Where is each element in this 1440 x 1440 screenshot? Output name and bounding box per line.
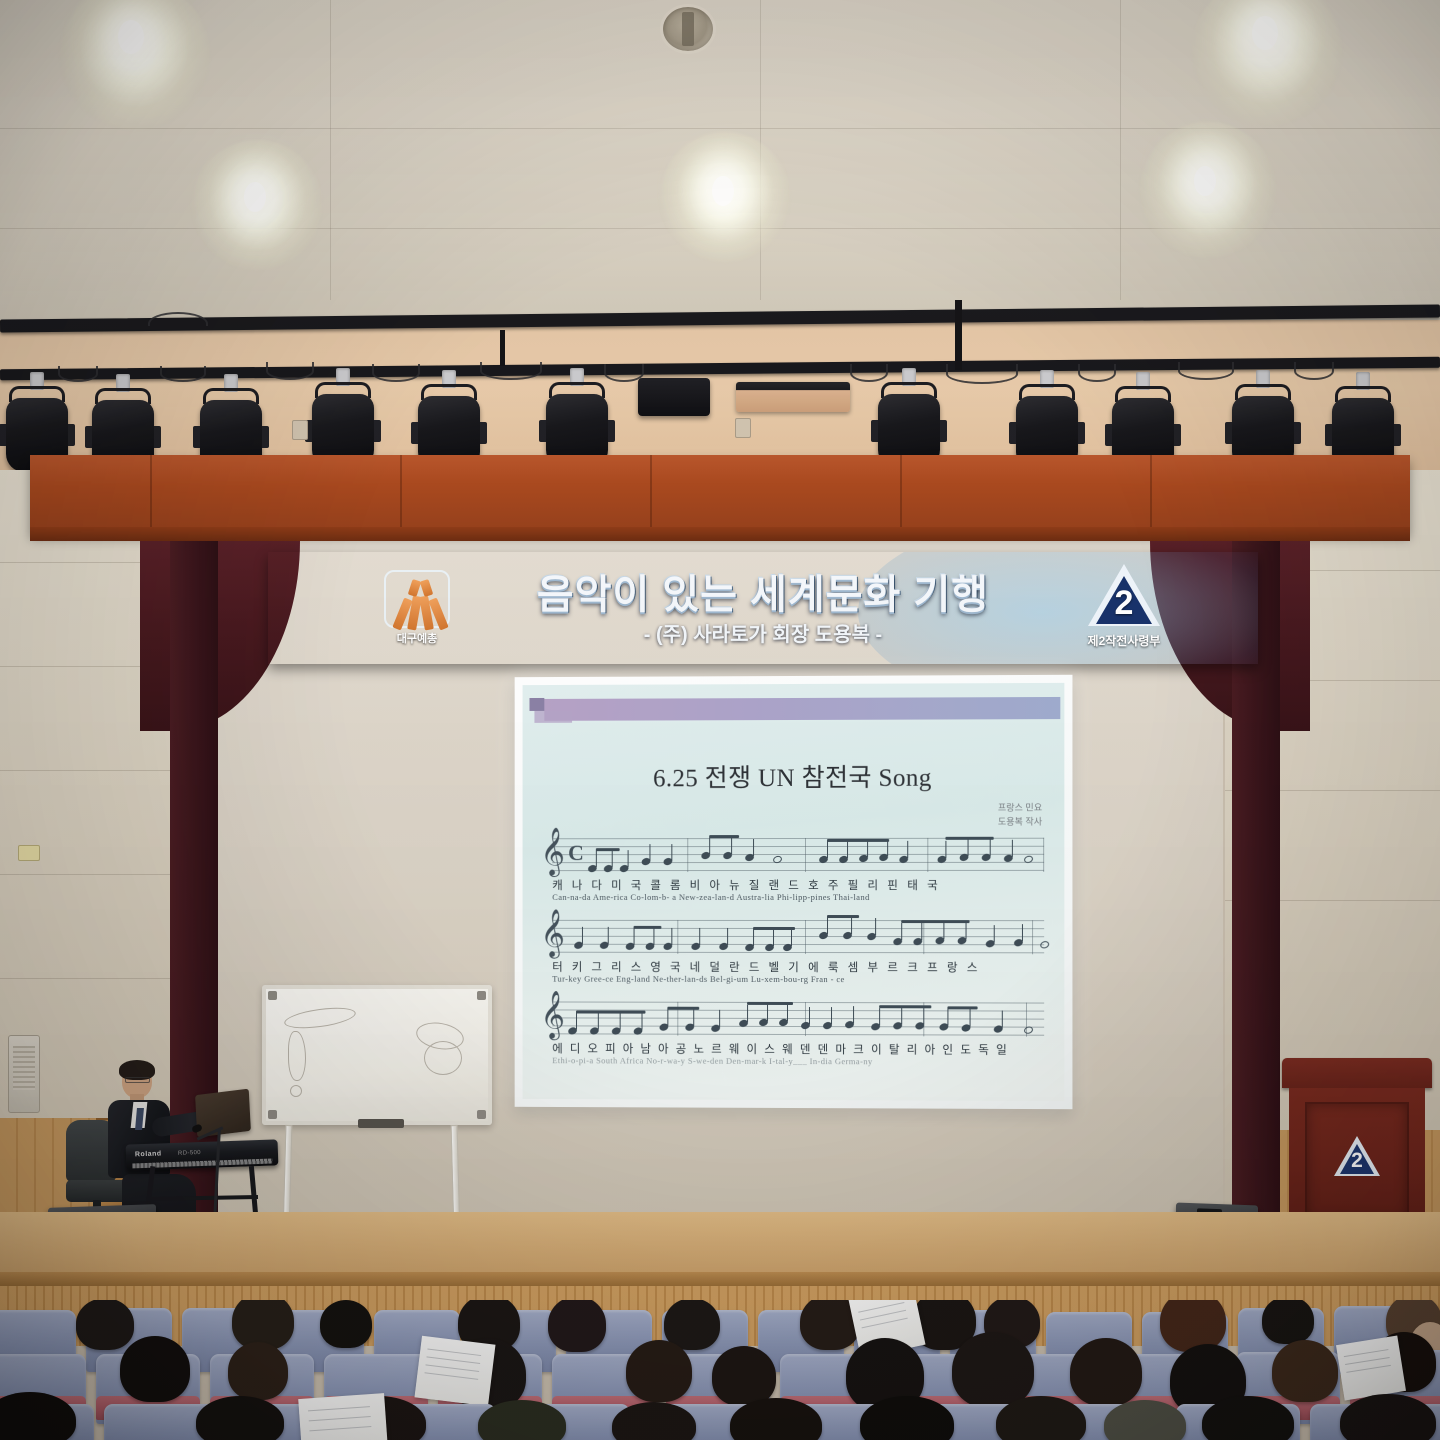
song-sheet[interactable] (1336, 1335, 1406, 1400)
whiteboard-surface[interactable] (262, 985, 492, 1125)
proscenium-header-lip (30, 527, 1410, 541)
presentation-slide: 6.25 전쟁 UN 참전국 Song 프랑스 민요 도용복 작사 𝄞 C (523, 683, 1065, 1101)
treble-clef-icon: 𝄞 (540, 993, 565, 1035)
truss-cable (1294, 362, 1334, 380)
song-sheet[interactable] (414, 1336, 495, 1407)
truss-cable (946, 364, 1018, 384)
ceiling-downlight-core (244, 182, 266, 212)
audience-head (76, 1300, 134, 1350)
auditorium-scene: 대구예총 음악이 있는 세계문화 기행 - (주) 사라토가 회장 도용복 - … (0, 0, 1440, 1440)
banner-subtitle: - (주) 사라토가 회장 도용복 - (458, 618, 1068, 647)
performer-glasses-icon (125, 1077, 150, 1083)
wall-fixture-plate (292, 420, 308, 440)
staff-lyrics-romanized: Tur-key Gree-ce Eng-land Ne-ther-lan-ds … (552, 974, 1038, 985)
ceiling (0, 0, 1440, 330)
staff-lyrics-korean: 캐 나 다 미 국 콜 롬 비 아 뉴 질 랜 드 호 주 필 리 핀 태 국 (552, 877, 1038, 893)
audience-head (228, 1342, 288, 1400)
audience-head (1070, 1338, 1142, 1406)
whiteboard-doodle (283, 1004, 357, 1032)
audience-head (1262, 1300, 1314, 1344)
wall-socket (18, 845, 40, 861)
staff-lyrics-romanized: Can-na-da Ame-rica Co-lom-b- a New-zea-l… (552, 892, 1038, 902)
treble-clef-icon: 𝄞 (540, 830, 565, 872)
slide-credit-line2: 도용복 작사 (998, 815, 1042, 829)
mobile-whiteboard[interactable] (262, 985, 492, 1250)
audience-head (952, 1332, 1034, 1408)
ceiling-downlight-core (1252, 16, 1278, 50)
audience-area (0, 1300, 1440, 1440)
audience-head (1272, 1340, 1338, 1402)
daegu-yechong-label: 대구예총 (376, 630, 458, 646)
banner-title: 음악이 있는 세계문화 기행 (458, 562, 1068, 620)
truss-cable (372, 364, 420, 382)
proscenium-header (30, 455, 1410, 533)
wall-fixture-plate (735, 418, 751, 438)
slide-credit: 프랑스 민요 도용복 작사 (998, 802, 1042, 829)
keyboard-model-label: RD-500 (178, 1150, 201, 1157)
treble-clef-icon: 𝄞 (540, 912, 565, 954)
event-banner: 대구예총 음악이 있는 세계문화 기행 - (주) 사라토가 회장 도용복 - … (268, 552, 1258, 664)
song-sheet[interactable] (298, 1393, 388, 1440)
music-stand (195, 1089, 251, 1138)
truss-vertical-brace (955, 300, 962, 370)
stage-light-barfixture (736, 382, 850, 412)
projection-screen: 6.25 전쟁 UN 참전국 Song 프랑스 민요 도용복 작사 𝄞 C (515, 675, 1073, 1109)
ceiling-vent-icon (660, 4, 716, 54)
time-signature: C (568, 840, 584, 866)
slide-credit-line1: 프랑스 민요 (998, 802, 1042, 816)
music-staff: 𝄞 C (538, 834, 1044, 918)
truss-cable (160, 366, 206, 382)
music-staff: 𝄞 (538, 997, 1044, 1082)
ceiling-downlight (60, 0, 210, 130)
stage-light-floodbox (638, 378, 710, 416)
audience-head (712, 1346, 776, 1406)
music-staff: 𝄞 (538, 916, 1044, 1001)
daegu-yechong-logo-icon: 대구예총 (376, 568, 458, 652)
keyboard-brand-label: Roland (135, 1150, 162, 1158)
roland-keyboard[interactable]: Roland RD-500 (126, 1139, 279, 1170)
audience-head (320, 1300, 372, 1348)
audience-head (120, 1336, 190, 1402)
air-conditioner-unit (8, 1035, 40, 1113)
truss-cable (850, 364, 888, 382)
staff-lyrics-romanized: Ethi-o-pi-a South Africa No-r-wa-y S-we-… (552, 1055, 1038, 1067)
truss-vertical-brace (500, 330, 505, 366)
audience-head (548, 1300, 606, 1352)
truss-cable (1178, 362, 1234, 380)
stage-edge (0, 1272, 1440, 1286)
whiteboard-doodle (288, 1031, 306, 1081)
podium-emblem-number: 2 (1334, 1150, 1380, 1171)
ceiling-downlight-core (118, 20, 144, 54)
whiteboard-doodle (290, 1085, 302, 1097)
whiteboard-marker-tray (358, 1119, 404, 1128)
truss-cable (480, 362, 542, 380)
slide-header-bar (544, 697, 1060, 721)
truss-cable (266, 362, 314, 380)
audience-head (626, 1340, 692, 1402)
second-operations-command-label: 제2작전사령부 (1072, 632, 1176, 649)
slide-title: 6.25 전쟁 UN 참전국 Song (523, 757, 1065, 794)
podium-emblem-icon: 2 (1334, 1136, 1380, 1178)
slide-header-square-secondary (534, 711, 572, 723)
emblem-number: 2 (1072, 586, 1176, 620)
ceiling-downlight-core (1194, 166, 1216, 196)
second-operations-command-logo-icon: 2 제2작전사령부 (1072, 564, 1176, 656)
audience-head (196, 1396, 284, 1440)
truss-cable (1078, 364, 1116, 382)
ceiling-downlight-core (712, 176, 734, 206)
truss-cable (58, 366, 98, 382)
truss-cable (604, 364, 644, 382)
slide-header-square (529, 698, 544, 711)
